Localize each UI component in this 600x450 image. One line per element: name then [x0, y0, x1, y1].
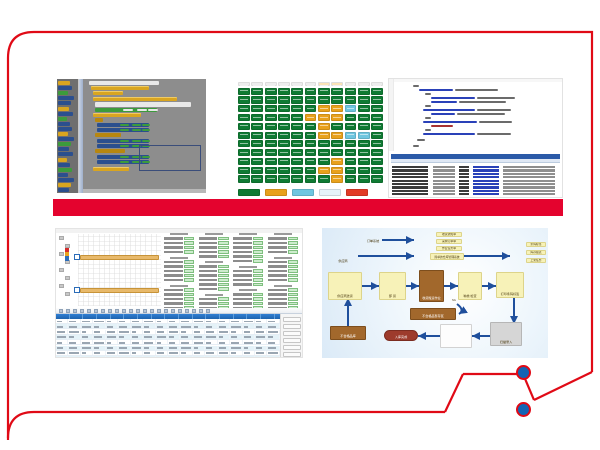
- output-log-row[interactable]: [459, 173, 469, 175]
- erp-property-value[interactable]: [288, 241, 298, 244]
- erp-property-value[interactable]: [253, 278, 263, 281]
- status-grid-cell[interactable]: [331, 114, 343, 121]
- erp-property-value[interactable]: [184, 269, 194, 272]
- erp-table-cell[interactable]: [255, 319, 267, 323]
- erp-table-cell[interactable]: [106, 356, 118, 358]
- erp-property-value[interactable]: [184, 260, 194, 263]
- erp-table-cell[interactable]: [218, 330, 230, 334]
- status-grid-cell[interactable]: [291, 149, 303, 156]
- status-grid-cell[interactable]: [238, 105, 250, 112]
- erp-toolbar-icon[interactable]: [122, 309, 126, 313]
- block-socket[interactable]: [137, 109, 147, 112]
- status-grid-cell[interactable]: [278, 140, 290, 147]
- status-grid-cell[interactable]: [238, 96, 250, 103]
- status-grid-cell[interactable]: [371, 88, 383, 95]
- flow-tag-purchase-order[interactable]: 采购订单单: [436, 239, 462, 244]
- erp-table-cell[interactable]: [168, 330, 180, 334]
- status-grid-cell[interactable]: [251, 114, 263, 121]
- erp-table-cell[interactable]: [180, 346, 192, 350]
- status-grid-cell[interactable]: [278, 158, 290, 165]
- erp-table-cell[interactable]: [193, 356, 205, 358]
- status-grid-cell[interactable]: [358, 140, 370, 147]
- erp-table-cell[interactable]: [131, 319, 143, 323]
- status-grid-cell[interactable]: [318, 132, 330, 139]
- block-socket[interactable]: [120, 124, 128, 127]
- status-grid-cell[interactable]: [291, 96, 303, 103]
- status-grid-cell[interactable]: [305, 149, 317, 156]
- erp-toolbar-icon[interactable]: [206, 309, 210, 313]
- erp-property-value[interactable]: [184, 246, 194, 249]
- erp-property-value[interactable]: [253, 269, 263, 272]
- erp-table-cell[interactable]: [106, 335, 118, 339]
- erp-table-cell[interactable]: [168, 324, 180, 328]
- status-grid-cell[interactable]: [251, 123, 263, 130]
- erp-table-cell[interactable]: [243, 335, 255, 339]
- erp-property-value[interactable]: [218, 278, 228, 281]
- erp-table-cell[interactable]: [81, 356, 93, 358]
- erp-property-value[interactable]: [253, 297, 263, 300]
- erp-table-cell[interactable]: [180, 340, 192, 344]
- status-grid-cell[interactable]: [265, 88, 277, 95]
- erp-table-cell[interactable]: [218, 340, 230, 344]
- erp-table-cell[interactable]: [81, 324, 93, 328]
- erp-table-cell[interactable]: [205, 335, 217, 339]
- erp-table-cell[interactable]: [230, 319, 242, 323]
- erp-property-value[interactable]: [288, 293, 298, 296]
- status-grid-cell[interactable]: [358, 175, 370, 182]
- output-log-row[interactable]: [473, 166, 499, 168]
- status-grid-cell[interactable]: [278, 167, 290, 174]
- output-log-row[interactable]: [392, 176, 428, 178]
- status-grid-cell[interactable]: [238, 158, 250, 165]
- output-log-row[interactable]: [503, 193, 555, 195]
- erp-table-cell[interactable]: [56, 351, 68, 355]
- flow-node-barcode-print[interactable]: 打印条码标签: [496, 272, 524, 298]
- status-grid-cell[interactable]: [265, 96, 277, 103]
- erp-property-value[interactable]: [253, 250, 263, 253]
- erp-toolbar-icon[interactable]: [129, 309, 133, 313]
- status-grid-cell[interactable]: [318, 105, 330, 112]
- erp-table-cell[interactable]: [180, 330, 192, 334]
- output-log-row[interactable]: [433, 176, 455, 178]
- output-log-row[interactable]: [459, 186, 469, 188]
- block-socket[interactable]: [132, 140, 140, 143]
- status-grid-cell[interactable]: [358, 123, 370, 130]
- status-grid-cell[interactable]: [345, 105, 357, 112]
- erp-table-cell[interactable]: [143, 319, 155, 323]
- erp-table-cell[interactable]: [56, 324, 68, 328]
- status-grid-cell[interactable]: [345, 149, 357, 156]
- status-grid-cell[interactable]: [238, 132, 250, 139]
- erp-property-value[interactable]: [253, 274, 263, 277]
- status-grid-cell[interactable]: [251, 140, 263, 147]
- erp-table-cell[interactable]: [255, 340, 267, 344]
- status-grid-cell[interactable]: [305, 132, 317, 139]
- output-log-row[interactable]: [473, 180, 499, 182]
- erp-table-cell[interactable]: [193, 351, 205, 355]
- erp-table-cell[interactable]: [143, 330, 155, 334]
- flow-node-supplier-delivery[interactable]: 供应商送货: [328, 272, 362, 300]
- erp-table-cell[interactable]: [68, 319, 80, 323]
- status-grid-cell[interactable]: [305, 105, 317, 112]
- erp-property-value[interactable]: [218, 274, 228, 277]
- erp-table-cell[interactable]: [118, 319, 130, 323]
- status-grid-cell[interactable]: [358, 88, 370, 95]
- output-log-row[interactable]: [503, 180, 555, 182]
- erp-table-cell[interactable]: [106, 340, 118, 344]
- gantt-bar[interactable]: [80, 255, 159, 260]
- status-grid-cell[interactable]: [305, 123, 317, 130]
- output-log-row[interactable]: [433, 186, 455, 188]
- erp-toolbar-icon[interactable]: [150, 309, 154, 313]
- erp-table-cell[interactable]: [131, 356, 143, 358]
- status-grid-cell[interactable]: [238, 175, 250, 182]
- status-grid-cell[interactable]: [251, 149, 263, 156]
- erp-table-cell[interactable]: [243, 346, 255, 350]
- workspace-block[interactable]: [93, 113, 141, 117]
- palette-block[interactable]: [58, 127, 72, 131]
- erp-table-cell[interactable]: [118, 346, 130, 350]
- status-grid-cell[interactable]: [305, 114, 317, 121]
- erp-property-value[interactable]: [288, 269, 298, 272]
- erp-property-value[interactable]: [218, 237, 228, 240]
- erp-side-button[interactable]: [283, 352, 301, 357]
- erp-property-value[interactable]: [184, 274, 194, 277]
- flow-node-unloading[interactable]: 卸 货: [379, 272, 406, 300]
- output-log-row[interactable]: [503, 190, 555, 192]
- status-grid-cell[interactable]: [331, 158, 343, 165]
- erp-side-button[interactable]: [283, 338, 301, 343]
- erp-table-cell[interactable]: [168, 340, 180, 344]
- output-log-row[interactable]: [473, 193, 499, 195]
- output-log-row[interactable]: [503, 166, 555, 168]
- erp-side-icon-strip[interactable]: [58, 234, 72, 304]
- output-log-row[interactable]: [473, 183, 499, 185]
- status-grid-cell[interactable]: [345, 88, 357, 95]
- status-grid-cell[interactable]: [331, 105, 343, 112]
- erp-table-cell[interactable]: [68, 324, 80, 328]
- status-grid-cell[interactable]: [278, 175, 290, 182]
- status-grid-cell[interactable]: [358, 132, 370, 139]
- erp-property-value[interactable]: [253, 237, 263, 240]
- status-grid-cell[interactable]: [345, 96, 357, 103]
- erp-table-cell[interactable]: [118, 356, 130, 358]
- palette-block[interactable]: [58, 183, 71, 187]
- blocks-workspace-canvas[interactable]: [83, 79, 206, 193]
- erp-table-cell[interactable]: [68, 340, 80, 344]
- output-log-row[interactable]: [459, 190, 469, 192]
- flow-node-inbound-complete[interactable]: 入库完成: [384, 330, 418, 341]
- erp-table-cell[interactable]: [106, 346, 118, 350]
- erp-table-cell[interactable]: [56, 330, 68, 334]
- erp-toolbar-icon[interactable]: [108, 309, 112, 313]
- workspace-block[interactable]: [95, 133, 121, 137]
- palette-block[interactable]: [58, 96, 74, 100]
- erp-table-cell[interactable]: [267, 324, 279, 328]
- status-grid-cell[interactable]: [265, 114, 277, 121]
- status-grid-cell[interactable]: [265, 140, 277, 147]
- erp-table-cell[interactable]: [267, 356, 279, 358]
- erp-table-cell[interactable]: [218, 324, 230, 328]
- erp-table-cell[interactable]: [180, 351, 192, 355]
- palette-block[interactable]: [58, 163, 70, 167]
- erp-table-cell[interactable]: [267, 346, 279, 350]
- status-grid-cell[interactable]: [318, 88, 330, 95]
- output-log-row[interactable]: [433, 173, 455, 175]
- erp-toolbar-icon[interactable]: [171, 309, 175, 313]
- erp-table-cell[interactable]: [267, 340, 279, 344]
- output-log-row[interactable]: [433, 180, 455, 182]
- panel-warehouse-flow-diagram[interactable]: 订单系统 供应商 收货通知单 采购订单单 作业任务单 简单的仓库管理系统 条码标…: [322, 228, 548, 358]
- flow-tag-stock-report[interactable]: 库存报表: [526, 250, 546, 255]
- flow-node-receiving-operation[interactable]: 收货搬运作业: [419, 270, 444, 302]
- erp-property-value[interactable]: [253, 302, 263, 305]
- palette-block[interactable]: [58, 137, 74, 141]
- block-socket[interactable]: [120, 140, 128, 143]
- status-grid-cell[interactable]: [331, 167, 343, 174]
- erp-table-cell[interactable]: [68, 346, 80, 350]
- erp-table-cell[interactable]: [156, 335, 168, 339]
- block-socket[interactable]: [120, 145, 128, 148]
- status-grid-cell[interactable]: [331, 140, 343, 147]
- status-grid-cell[interactable]: [265, 105, 277, 112]
- erp-property-value[interactable]: [218, 246, 228, 249]
- status-grid-cell[interactable]: [358, 105, 370, 112]
- erp-side-button[interactable]: [283, 345, 301, 350]
- erp-toolbar-icon[interactable]: [157, 309, 161, 313]
- erp-toolbar-icon[interactable]: [59, 309, 63, 313]
- erp-table-cell[interactable]: [81, 340, 93, 344]
- erp-side-icon[interactable]: [65, 276, 70, 280]
- status-grid-cell[interactable]: [251, 158, 263, 165]
- status-grid-cell[interactable]: [278, 88, 290, 95]
- erp-table-cell[interactable]: [205, 356, 217, 358]
- panel-erp-scheduling[interactable]: [55, 228, 303, 358]
- erp-table-cell[interactable]: [230, 351, 242, 355]
- erp-property-value[interactable]: [288, 288, 298, 291]
- status-grid-cell[interactable]: [305, 175, 317, 182]
- erp-table-cell[interactable]: [180, 356, 192, 358]
- erp-property-value[interactable]: [288, 278, 298, 281]
- erp-table-cell[interactable]: [156, 351, 168, 355]
- erp-property-value[interactable]: [288, 237, 298, 240]
- erp-table-cell[interactable]: [156, 324, 168, 328]
- palette-block[interactable]: [58, 91, 68, 95]
- erp-table-cell[interactable]: [180, 319, 192, 323]
- status-grid-cell[interactable]: [318, 175, 330, 182]
- erp-table-cell[interactable]: [93, 351, 105, 355]
- status-grid-cell[interactable]: [358, 167, 370, 174]
- erp-property-value[interactable]: [288, 302, 298, 305]
- erp-table-cell[interactable]: [143, 351, 155, 355]
- erp-side-button[interactable]: [283, 317, 301, 322]
- erp-table-cell[interactable]: [131, 346, 143, 350]
- erp-table-cell[interactable]: [93, 319, 105, 323]
- erp-toolbar-icon[interactable]: [178, 309, 182, 313]
- status-grid-cell[interactable]: [371, 105, 383, 112]
- erp-property-value[interactable]: [218, 241, 228, 244]
- erp-table-cell[interactable]: [230, 324, 242, 328]
- status-grid-cell[interactable]: [291, 132, 303, 139]
- output-log-row[interactable]: [459, 166, 469, 168]
- workspace-block[interactable]: [91, 86, 149, 90]
- erp-side-icon[interactable]: [59, 236, 64, 240]
- status-grid-cell[interactable]: [251, 88, 263, 95]
- erp-toolbar-icon[interactable]: [192, 309, 196, 313]
- flow-tag-task-order[interactable]: 作业任务单: [436, 246, 462, 251]
- gantt-node[interactable]: [74, 254, 80, 260]
- erp-table-cell[interactable]: [243, 356, 255, 358]
- block-socket[interactable]: [142, 129, 150, 132]
- block-socket[interactable]: [148, 109, 158, 112]
- blocks-horizontal-scrollbar[interactable]: [83, 189, 206, 193]
- erp-property-value[interactable]: [218, 283, 228, 286]
- erp-table-cell[interactable]: [131, 340, 143, 344]
- palette-block[interactable]: [58, 81, 70, 85]
- erp-side-button[interactable]: [283, 331, 301, 336]
- output-log-row[interactable]: [473, 176, 499, 178]
- erp-table-cell[interactable]: [143, 335, 155, 339]
- erp-property-value[interactable]: [218, 269, 228, 272]
- status-grid-cell[interactable]: [318, 140, 330, 147]
- erp-side-icon[interactable]: [59, 284, 64, 288]
- status-grid-cell[interactable]: [291, 105, 303, 112]
- erp-table-cell[interactable]: [255, 335, 267, 339]
- code-output-columnheader[interactable]: [391, 159, 560, 163]
- erp-toolbar-icon[interactable]: [136, 309, 140, 313]
- status-grid-cell[interactable]: [358, 114, 370, 121]
- output-log-row[interactable]: [459, 180, 469, 182]
- erp-property-value[interactable]: [184, 288, 194, 291]
- erp-table-cell[interactable]: [243, 330, 255, 334]
- erp-table-cell[interactable]: [81, 346, 93, 350]
- erp-table-cell[interactable]: [243, 319, 255, 323]
- erp-table-cell[interactable]: [81, 335, 93, 339]
- status-grid-cell[interactable]: [318, 167, 330, 174]
- erp-table-cell[interactable]: [193, 324, 205, 328]
- panel-status-grid[interactable]: [235, 80, 385, 198]
- erp-toolbar-icon[interactable]: [143, 309, 147, 313]
- erp-table-cell[interactable]: [93, 356, 105, 358]
- erp-property-value[interactable]: [184, 297, 194, 300]
- palette-block[interactable]: [58, 112, 73, 116]
- status-grid-cell[interactable]: [345, 167, 357, 174]
- palette-block[interactable]: [58, 188, 69, 192]
- erp-table-cell[interactable]: [193, 330, 205, 334]
- status-grid-cell[interactable]: [291, 167, 303, 174]
- palette-block[interactable]: [58, 101, 71, 105]
- status-grid-cell[interactable]: [305, 158, 317, 165]
- output-log-row[interactable]: [473, 190, 499, 192]
- flow-tag-putaway-task[interactable]: 上架任务: [526, 258, 546, 263]
- palette-block[interactable]: [58, 132, 68, 136]
- erp-table-cell[interactable]: [193, 340, 205, 344]
- erp-table-cell[interactable]: [156, 340, 168, 344]
- output-log-row[interactable]: [459, 183, 469, 185]
- erp-table-cell[interactable]: [205, 340, 217, 344]
- status-grid-cell[interactable]: [251, 105, 263, 112]
- status-grid-cell[interactable]: [371, 158, 383, 165]
- erp-table-cell[interactable]: [218, 319, 230, 323]
- erp-side-icon[interactable]: [59, 252, 64, 256]
- erp-table-cell[interactable]: [230, 335, 242, 339]
- status-grid-cell[interactable]: [331, 175, 343, 182]
- status-grid-cell[interactable]: [371, 123, 383, 130]
- status-grid-cell[interactable]: [358, 96, 370, 103]
- flow-node-nonconforming-area[interactable]: 不合格品暂存区: [410, 308, 456, 320]
- output-log-row[interactable]: [473, 169, 499, 171]
- erp-table-cell[interactable]: [156, 346, 168, 350]
- erp-table-cell[interactable]: [230, 340, 242, 344]
- status-grid-cell[interactable]: [291, 114, 303, 121]
- erp-property-value[interactable]: [288, 260, 298, 263]
- erp-gantt-chart[interactable]: [78, 234, 161, 306]
- erp-table-cell[interactable]: [81, 330, 93, 334]
- block-socket[interactable]: [120, 129, 128, 132]
- erp-property-value[interactable]: [288, 297, 298, 300]
- palette-block[interactable]: [58, 152, 73, 156]
- flow-node-supplier-contact[interactable]: 供应商: [330, 246, 356, 264]
- erp-table-cell[interactable]: [106, 319, 118, 323]
- erp-table-cell[interactable]: [267, 319, 279, 323]
- erp-table-cell[interactable]: [205, 319, 217, 323]
- status-grid-cell[interactable]: [265, 158, 277, 165]
- status-grid-cell[interactable]: [238, 140, 250, 147]
- status-grid-cell[interactable]: [305, 96, 317, 103]
- status-grid-cell[interactable]: [251, 96, 263, 103]
- status-grid-cell[interactable]: [238, 88, 250, 95]
- erp-table-cell[interactable]: [93, 346, 105, 350]
- status-grid-cell[interactable]: [331, 96, 343, 103]
- erp-side-icon[interactable]: [65, 292, 70, 296]
- block-socket[interactable]: [132, 124, 140, 127]
- output-log-row[interactable]: [473, 173, 499, 175]
- erp-property-value[interactable]: [253, 283, 263, 286]
- erp-table-cell[interactable]: [56, 335, 68, 339]
- status-grid-cell[interactable]: [305, 88, 317, 95]
- erp-table-cell[interactable]: [230, 356, 242, 358]
- erp-table-cell[interactable]: [56, 319, 68, 323]
- erp-table-cell[interactable]: [193, 335, 205, 339]
- erp-table-cell[interactable]: [180, 324, 192, 328]
- erp-property-value[interactable]: [288, 265, 298, 268]
- status-grid-cell[interactable]: [278, 105, 290, 112]
- palette-block[interactable]: [58, 142, 71, 146]
- status-grid-cell[interactable]: [345, 175, 357, 182]
- output-log-row[interactable]: [392, 190, 428, 192]
- gantt-bar[interactable]: [80, 288, 159, 293]
- erp-table-cell[interactable]: [156, 330, 168, 334]
- output-log-row[interactable]: [392, 193, 428, 195]
- erp-table-cell[interactable]: [267, 330, 279, 334]
- erp-property-value[interactable]: [253, 255, 263, 258]
- status-grid-cell[interactable]: [278, 123, 290, 130]
- status-grid-cell[interactable]: [305, 140, 317, 147]
- erp-table-cell[interactable]: [243, 340, 255, 344]
- palette-block[interactable]: [58, 173, 68, 177]
- erp-toolbar-icon[interactable]: [80, 309, 84, 313]
- erp-table-cell[interactable]: [118, 335, 130, 339]
- erp-table-cell[interactable]: [218, 356, 230, 358]
- palette-block[interactable]: [58, 107, 69, 111]
- output-log-row[interactable]: [503, 176, 555, 178]
- erp-table-cell[interactable]: [243, 324, 255, 328]
- erp-table-cell[interactable]: [131, 335, 143, 339]
- status-grid-cell[interactable]: [358, 158, 370, 165]
- erp-table-cell[interactable]: [230, 346, 242, 350]
- erp-table-cell[interactable]: [81, 351, 93, 355]
- status-grid-cell[interactable]: [238, 167, 250, 174]
